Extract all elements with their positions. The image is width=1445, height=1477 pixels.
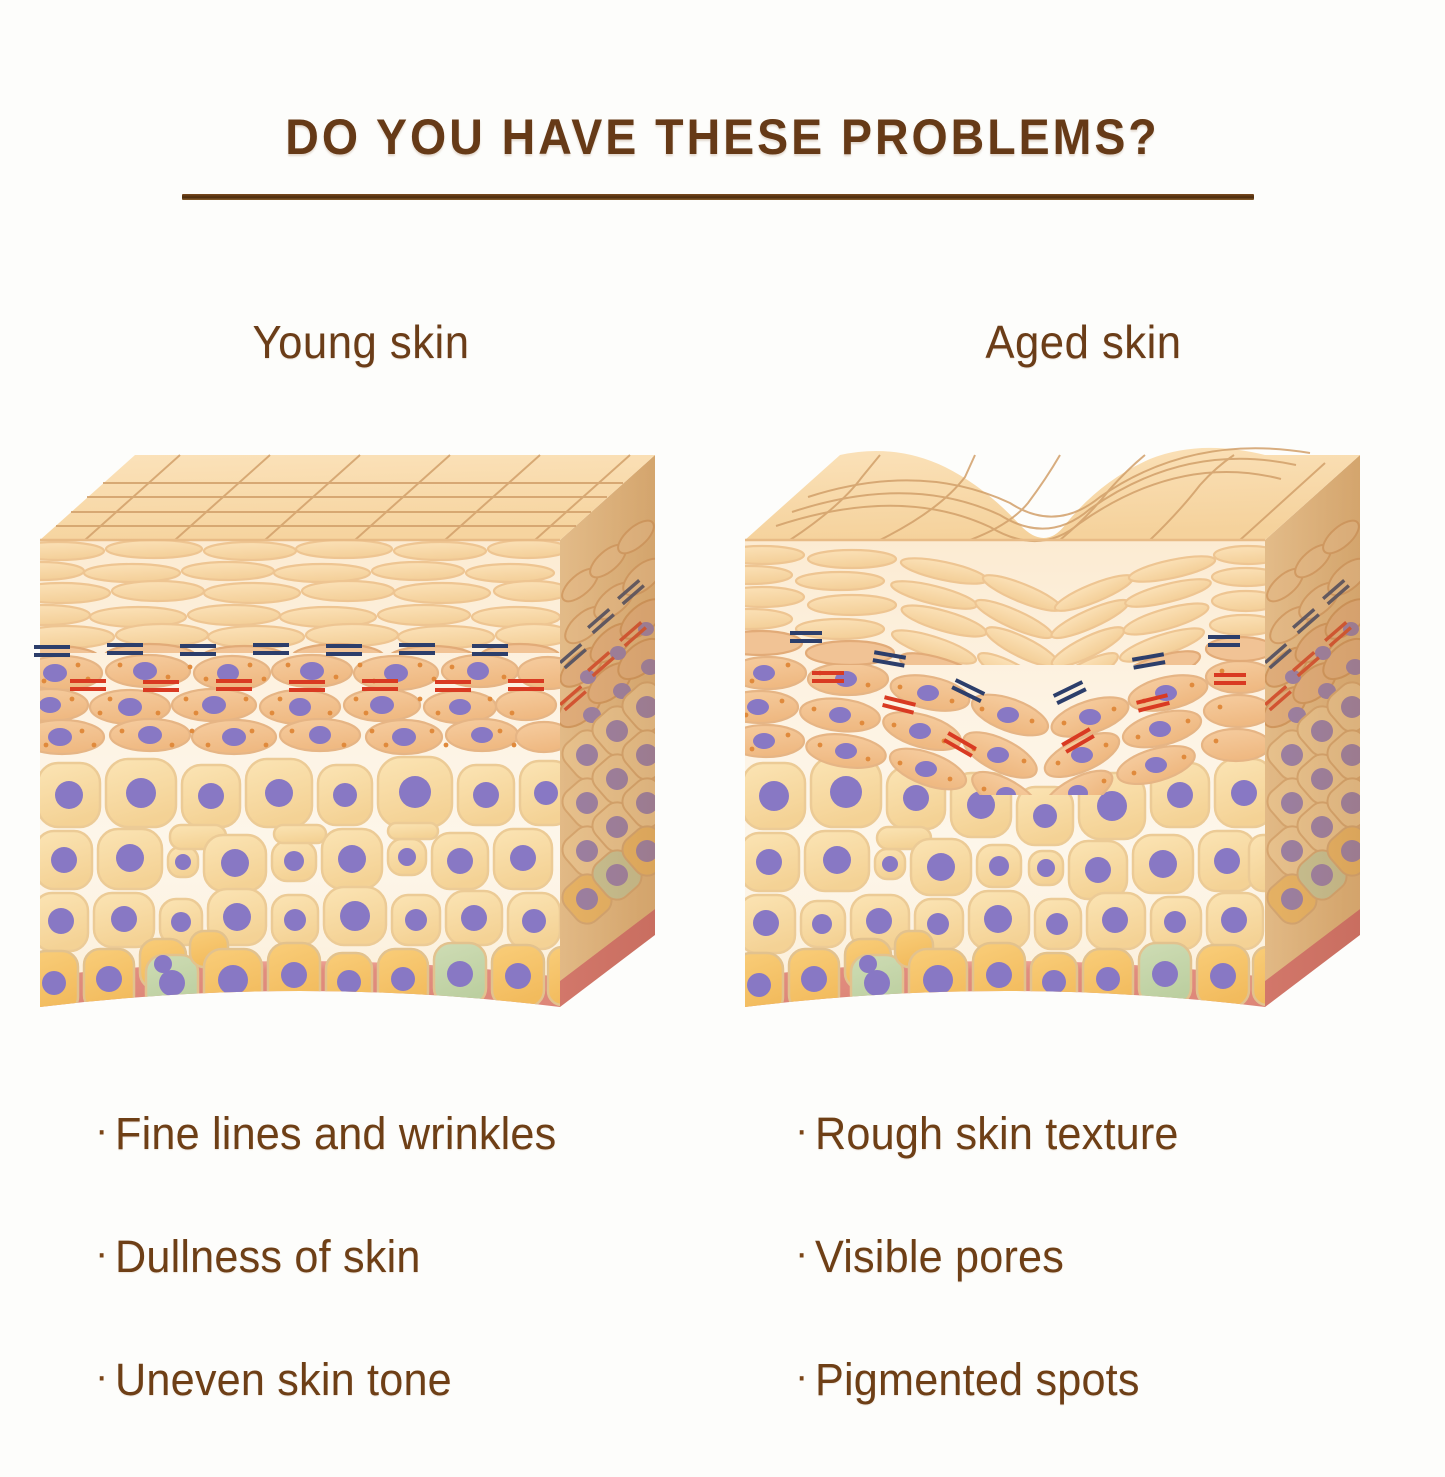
side-face-cells bbox=[1256, 455, 1382, 981]
list-item: · Uneven skin tone bbox=[95, 1354, 755, 1477]
bullet-label: Fine lines and wrinkles bbox=[115, 1108, 556, 1160]
title-divider bbox=[182, 194, 1254, 200]
bullet-marker-icon: · bbox=[95, 1356, 115, 1396]
list-item: · Visible pores bbox=[795, 1231, 1415, 1354]
bullet-list-aged: · Rough skin texture · Visible pores · P… bbox=[795, 1108, 1415, 1477]
column-heading-aged: Aged skin bbox=[740, 315, 1427, 369]
granular-cell-field bbox=[12, 655, 578, 754]
bullet-label: Dullness of skin bbox=[115, 1231, 421, 1283]
list-item: · Fine lines and wrinkles bbox=[95, 1108, 755, 1231]
list-item: · Pigmented spots bbox=[795, 1354, 1415, 1477]
bullet-marker-icon: · bbox=[795, 1233, 815, 1273]
page-title: DO YOU HAVE THESE PROBLEMS? bbox=[51, 108, 1395, 166]
bullet-marker-icon: · bbox=[95, 1233, 115, 1273]
bullet-label: Visible pores bbox=[815, 1231, 1064, 1283]
bullet-list-young: · Fine lines and wrinkles · Dullness of … bbox=[95, 1108, 755, 1477]
bullet-label: Rough skin texture bbox=[815, 1108, 1179, 1160]
bullet-label: Pigmented spots bbox=[815, 1354, 1140, 1406]
poster-root: DO YOU HAVE THESE PROBLEMS? Young skin A… bbox=[0, 0, 1445, 1445]
bullet-marker-icon: · bbox=[795, 1356, 815, 1396]
column-heading-young: Young skin bbox=[18, 315, 704, 369]
young-skin-block-diagram bbox=[0, 455, 677, 1013]
list-item: · Dullness of skin bbox=[95, 1231, 755, 1354]
diagram-stage bbox=[0, 415, 1445, 1060]
list-item: · Rough skin texture bbox=[795, 1108, 1415, 1231]
skin-top-surface-wrinkled bbox=[745, 448, 1360, 540]
aged-skin-block-diagram bbox=[708, 448, 1382, 1013]
bullet-marker-icon: · bbox=[795, 1110, 815, 1150]
bullet-marker-icon: · bbox=[95, 1110, 115, 1150]
side-face-cells bbox=[551, 455, 677, 981]
bullet-label: Uneven skin tone bbox=[115, 1354, 452, 1406]
